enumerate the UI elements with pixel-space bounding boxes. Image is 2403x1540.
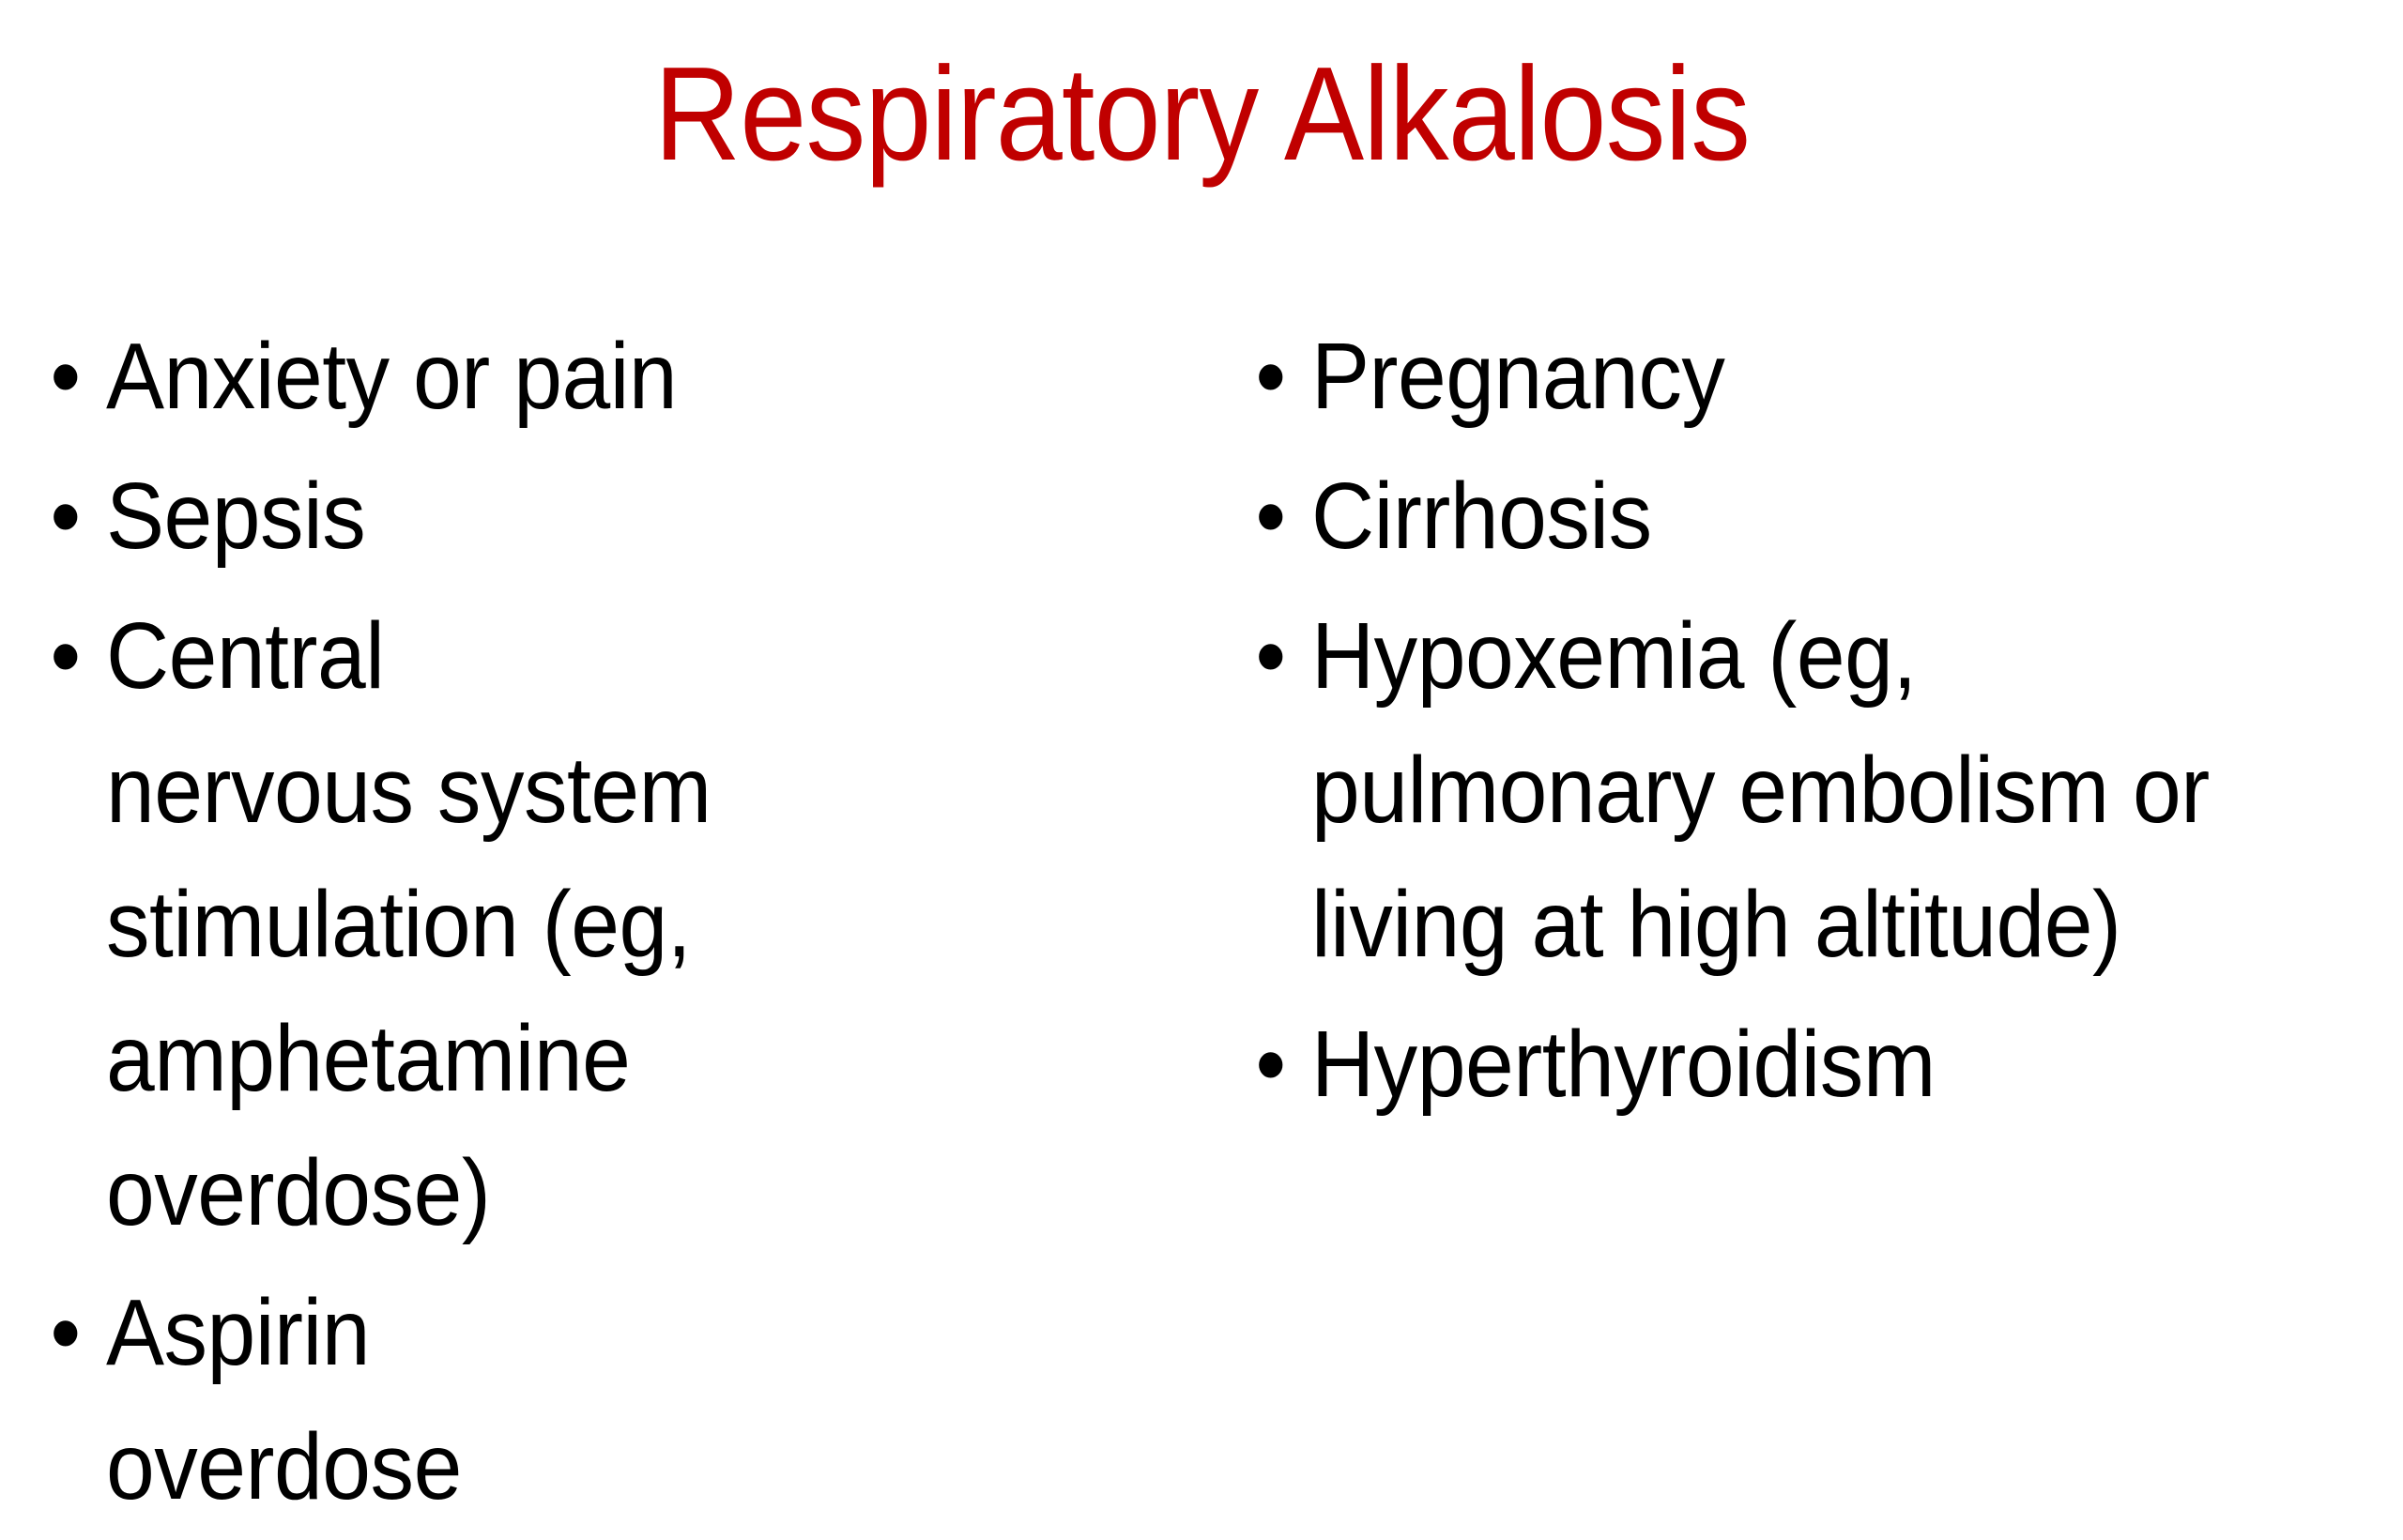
- list-item-label: Hypoxemia (eg, pulmonary embolism or liv…: [1311, 589, 2309, 992]
- list-item: Hyperthyroidism: [1248, 998, 2309, 1132]
- list-item-label: Anxiety or pain: [106, 310, 715, 444]
- list-item: Central nervous system stimulation (eg, …: [43, 589, 715, 1260]
- slide-canvas: Respiratory Alkalosis Anxiety or pain Se…: [0, 0, 2403, 1309]
- list-item: Cirrhosis: [1248, 450, 2309, 584]
- list-item: Pregnancy: [1248, 310, 2309, 444]
- right-bullet-list: Pregnancy Cirrhosis Hypoxemia (eg, pulmo…: [1248, 310, 2389, 1132]
- left-bullet-column: Anxiety or pain Sepsis Central nervous s…: [43, 310, 766, 1540]
- list-item-label: Sepsis: [106, 450, 715, 584]
- list-item: Sepsis: [43, 450, 715, 584]
- list-item-label: Hyperthyroidism: [1311, 998, 2309, 1132]
- list-item: Hypoxemia (eg, pulmonary embolism or liv…: [1248, 589, 2309, 992]
- list-item-label: Cirrhosis: [1311, 450, 2309, 584]
- list-item-label: Pregnancy: [1311, 310, 2309, 444]
- list-item: Aspirin overdose: [43, 1266, 715, 1534]
- list-item-label: Central nervous system stimulation (eg, …: [106, 589, 715, 1260]
- list-item: Anxiety or pain: [43, 310, 715, 444]
- title-placeholder: Respiratory Alkalosis: [0, 21, 2403, 208]
- page-title: Respiratory Alkalosis: [653, 48, 1749, 181]
- right-bullet-column: Pregnancy Cirrhosis Hypoxemia (eg, pulmo…: [1248, 310, 2389, 1137]
- left-bullet-list: Anxiety or pain Sepsis Central nervous s…: [43, 310, 766, 1534]
- list-item-label: Aspirin overdose: [106, 1266, 715, 1534]
- content-placeholder: Anxiety or pain Sepsis Central nervous s…: [0, 310, 2403, 1154]
